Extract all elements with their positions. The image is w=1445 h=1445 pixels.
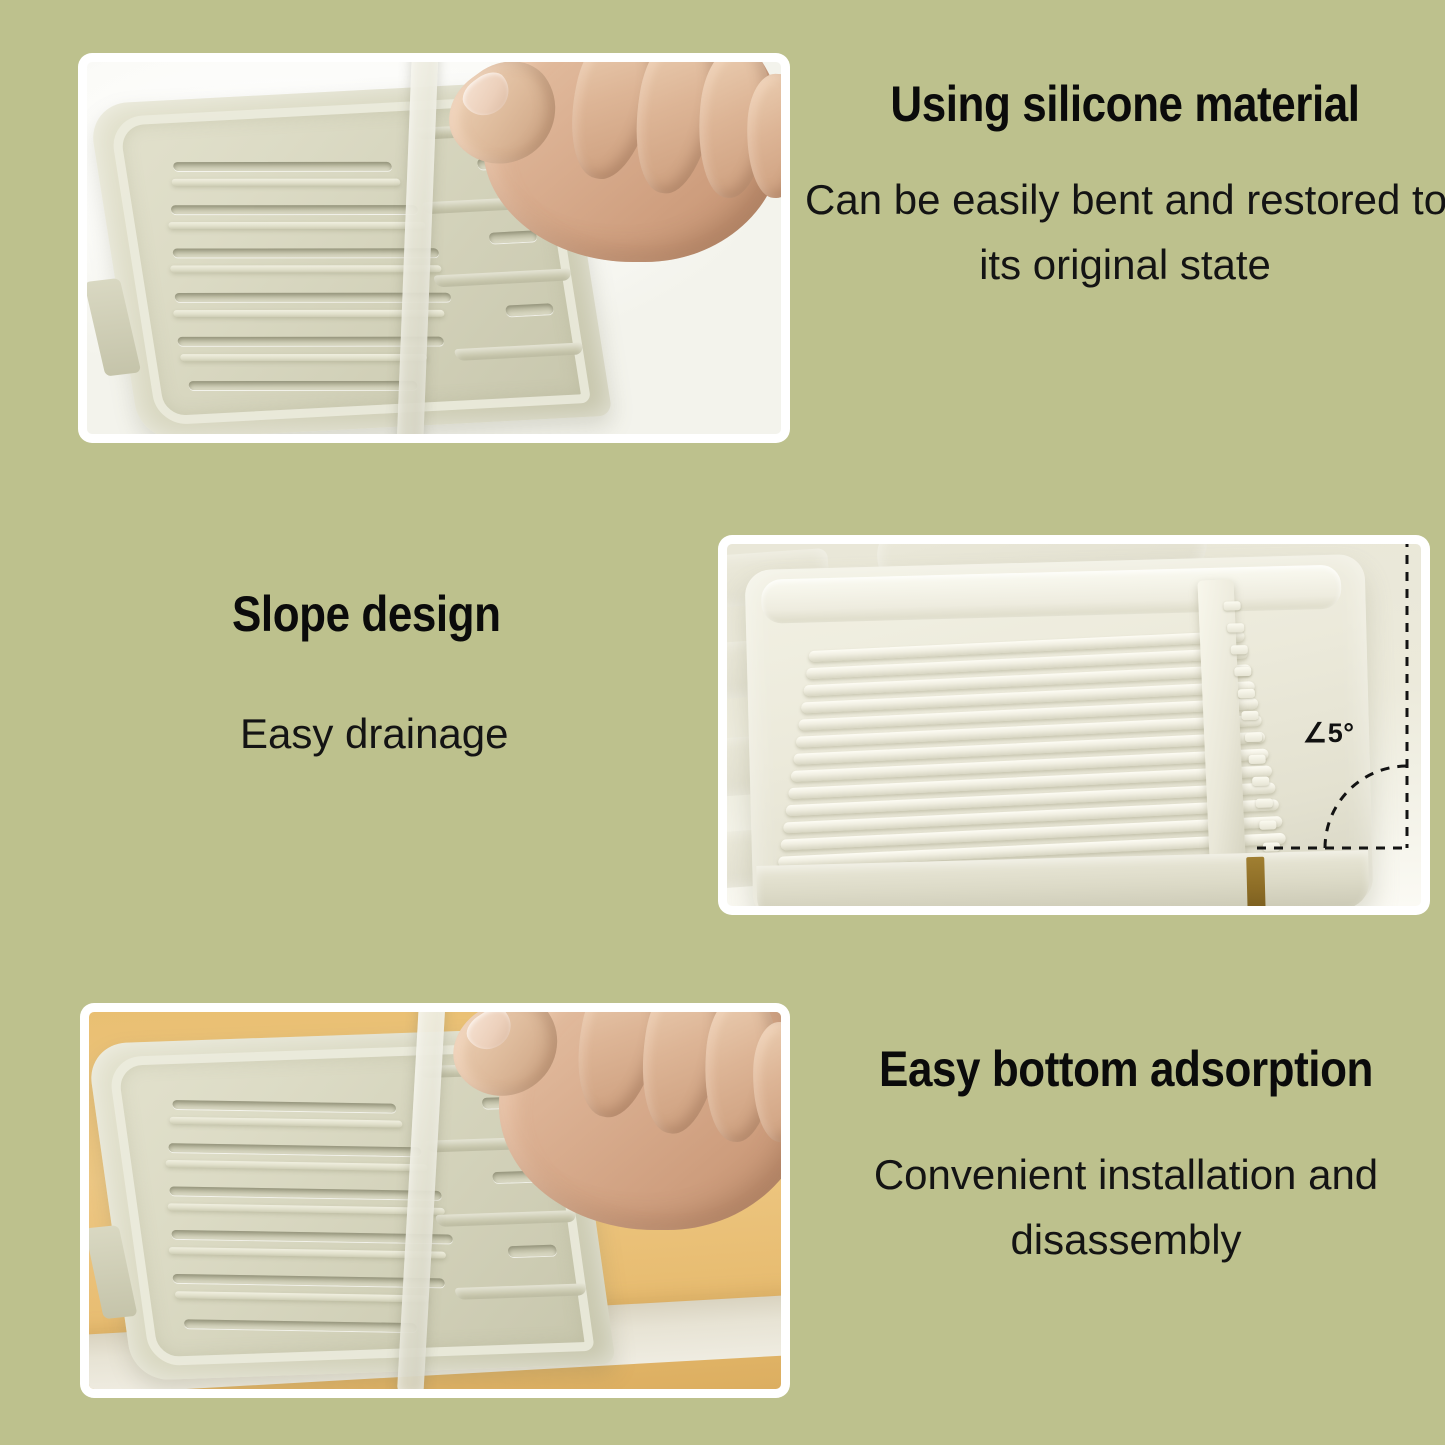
body-line-1: Easy drainage	[240, 701, 702, 766]
body-line-2: its original state	[805, 232, 1445, 297]
silicone-tray-bent-top	[87, 80, 612, 434]
feature-text-bottom-adsorption: Easy bottom adsorption Convenient instal…	[808, 1043, 1444, 1272]
mat-corner-gap	[1246, 857, 1265, 906]
body-silicone-material: Can be easily bent and restored to its o…	[805, 167, 1445, 297]
body-line-2: disassembly	[808, 1207, 1444, 1272]
tray-body	[87, 80, 612, 434]
heading-silicone-material: Using silicone material	[843, 78, 1406, 131]
photo-mid-inner: ∠5°	[727, 544, 1421, 906]
silicone-drain-mat	[745, 554, 1374, 906]
photo-top-inner	[87, 62, 781, 434]
photo-hand-bending-tray-tan	[80, 1003, 790, 1398]
body-bottom-adsorption: Convenient installation and disassembly	[808, 1142, 1444, 1272]
photo-ribbed-drain-mat: ∠5°	[718, 535, 1430, 915]
tray-body	[89, 1027, 616, 1381]
heading-bottom-adsorption: Easy bottom adsorption	[846, 1043, 1406, 1096]
body-line-1: Convenient installation and	[808, 1142, 1444, 1207]
tray-rim	[108, 94, 591, 426]
heading-slope-design: Slope design	[232, 588, 646, 641]
silicone-tray-bent-bottom	[89, 1027, 616, 1381]
photo-hand-bending-tray-white	[78, 53, 790, 443]
infographic-canvas: Using silicone material Can be easily be…	[0, 0, 1445, 1445]
feature-text-silicone-material: Using silicone material Can be easily be…	[805, 78, 1445, 297]
body-slope-design: Easy drainage	[232, 701, 702, 766]
photo-bottom-inner	[89, 1012, 781, 1389]
feature-text-slope-design: Slope design Easy drainage	[232, 588, 702, 766]
body-line-1: Can be easily bent and restored to	[805, 167, 1445, 232]
